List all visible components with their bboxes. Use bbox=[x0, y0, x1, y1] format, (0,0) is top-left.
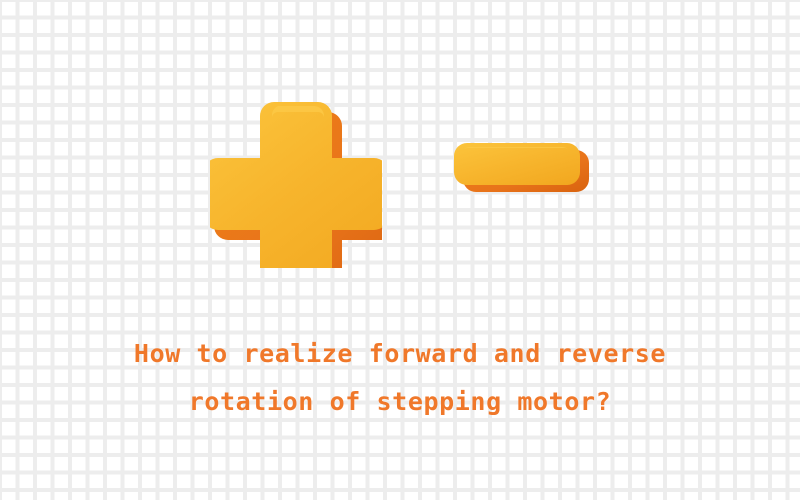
icon-row bbox=[0, 0, 800, 300]
caption-line-2: rotation of stepping motor? bbox=[0, 378, 800, 426]
caption-line-1: How to realize forward and reverse bbox=[0, 330, 800, 378]
caption-text: How to realize forward and reverse rotat… bbox=[0, 330, 800, 426]
minus-sign-icon bbox=[450, 138, 592, 200]
plus-sign-icon bbox=[210, 96, 382, 268]
page-canvas: How to realize forward and reverse rotat… bbox=[0, 0, 800, 500]
